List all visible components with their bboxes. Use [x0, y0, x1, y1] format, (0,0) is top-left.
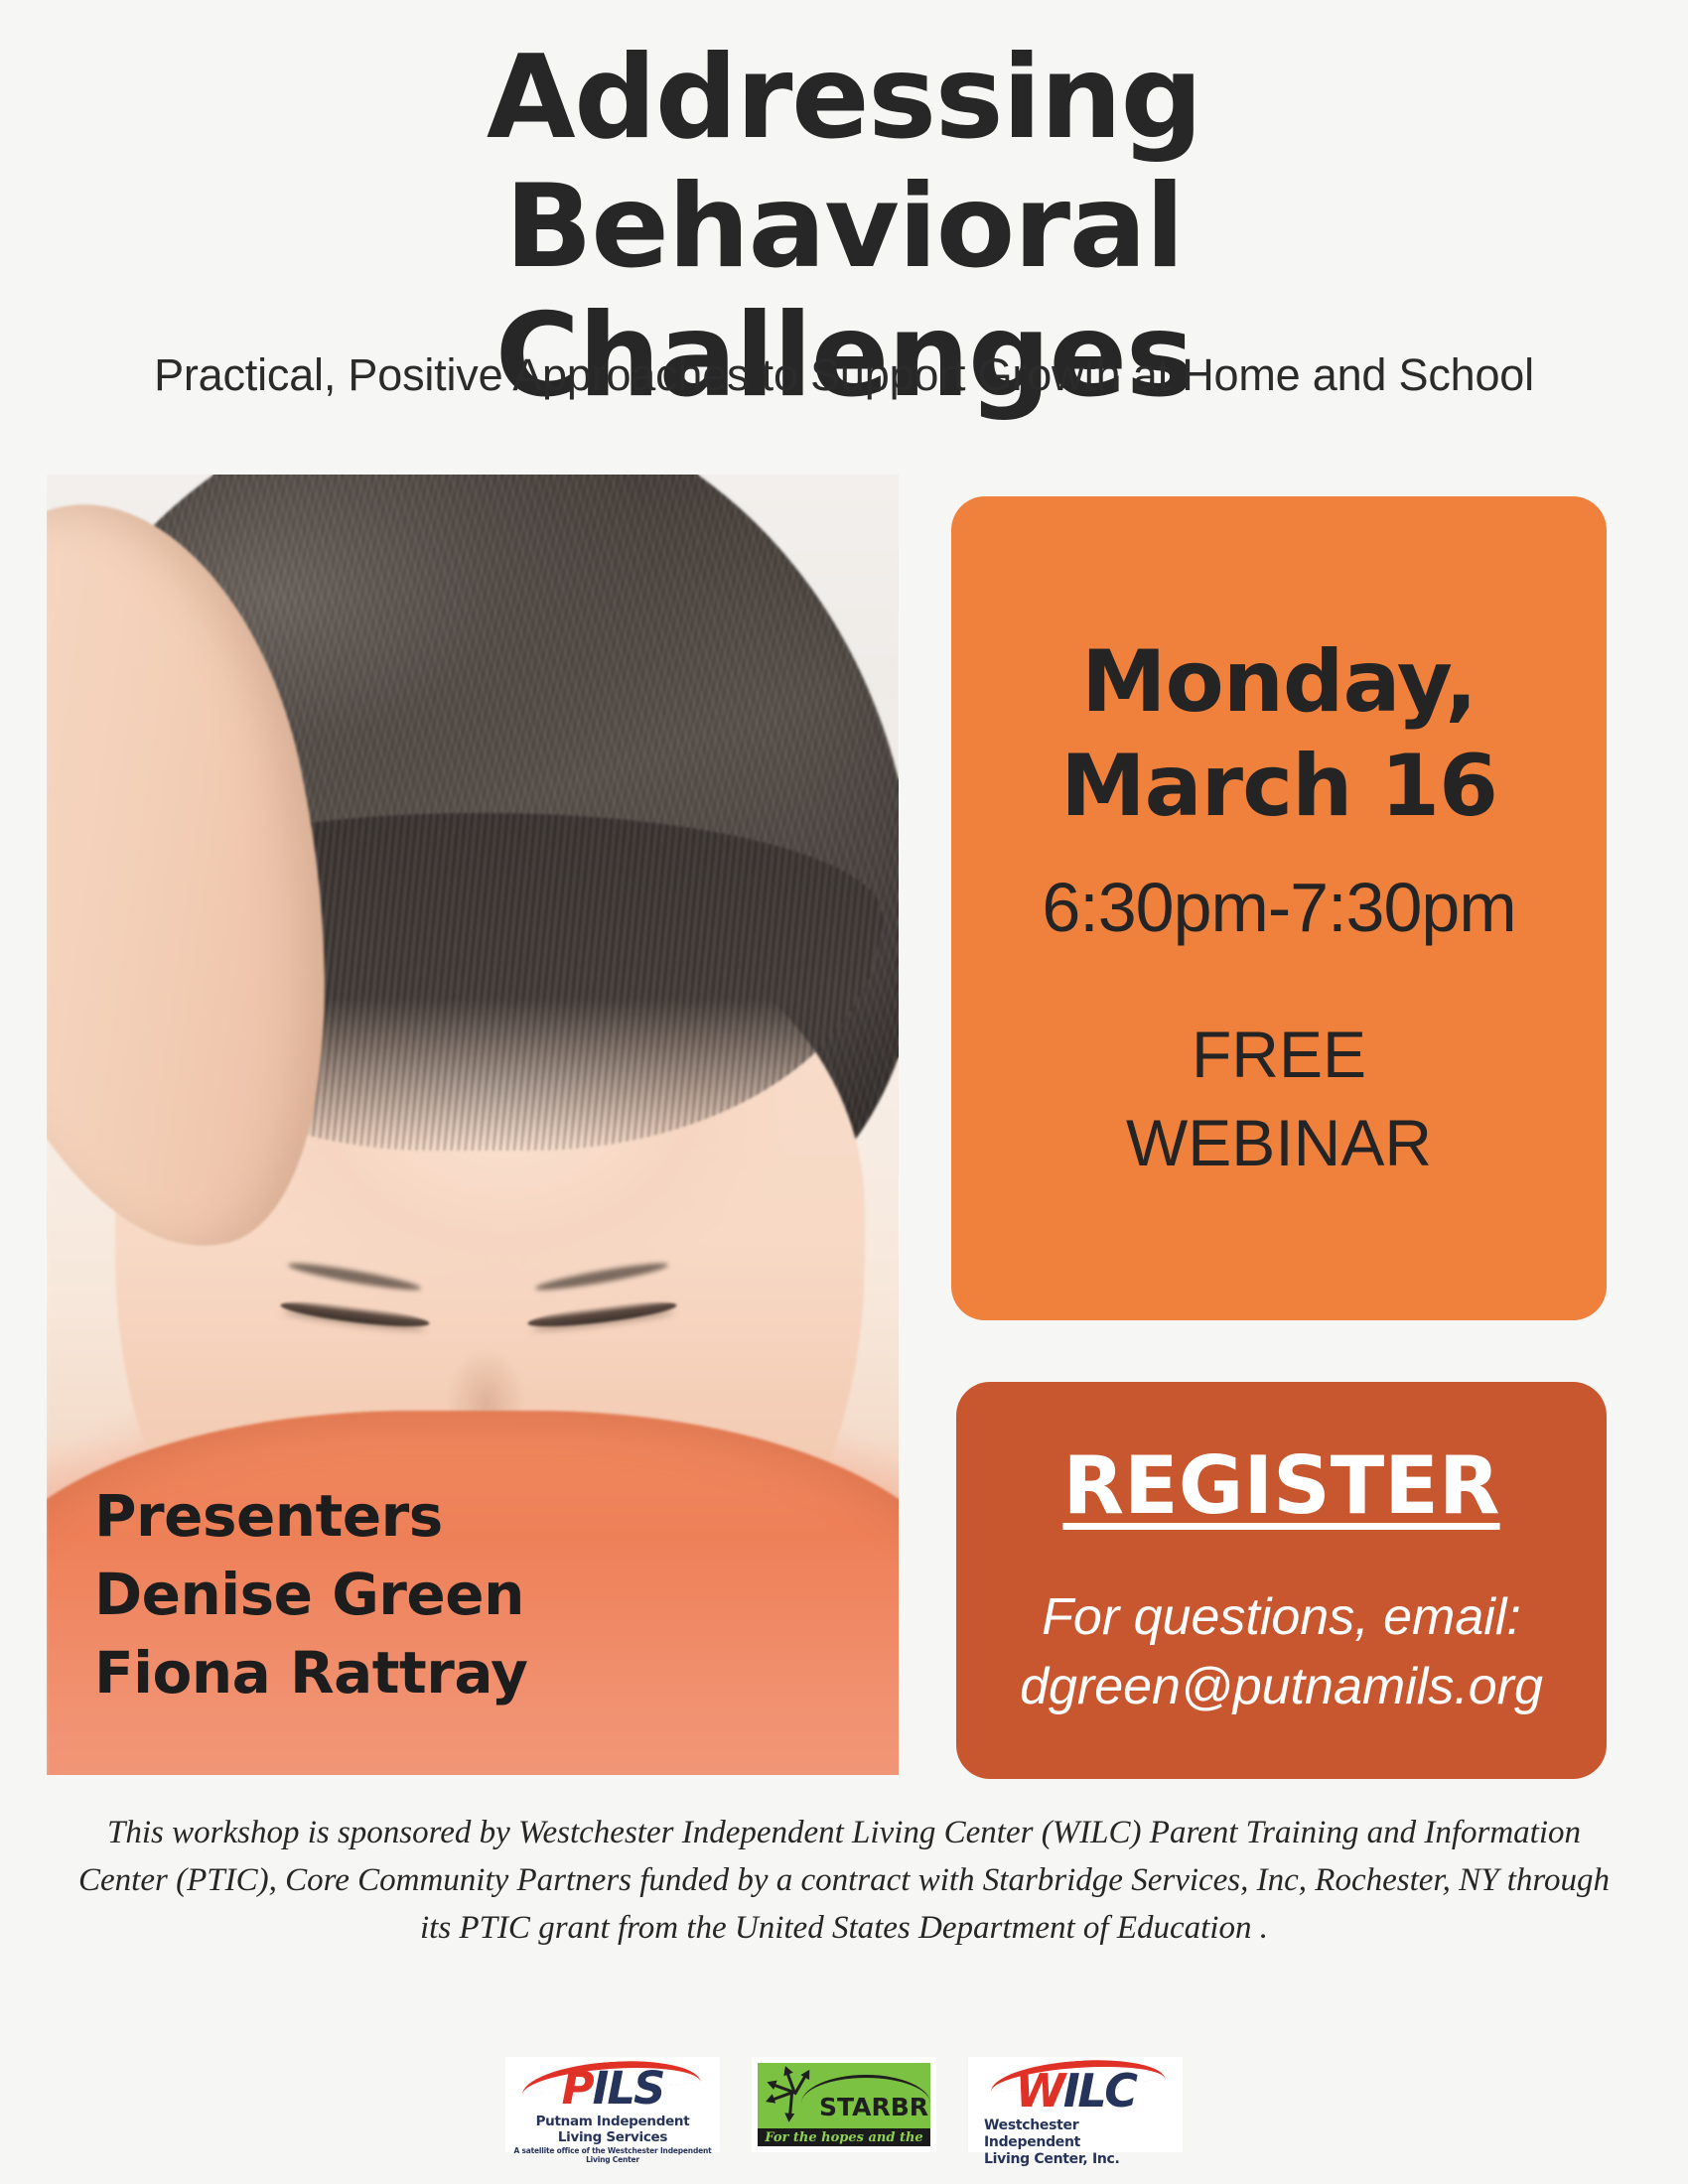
questions-label: For questions, email: [1042, 1583, 1521, 1653]
event-price-label: FREE [1192, 1011, 1366, 1098]
event-date: March 16 [1060, 735, 1497, 839]
wilc-logo: WILC Westchester Independent Living Cent… [968, 2057, 1183, 2152]
pils-mark-primary: P [562, 2062, 593, 2115]
wilc-mark-primary: W [1016, 2064, 1063, 2117]
wilc-subtitle-2: Living Center, Inc. [978, 2151, 1173, 2168]
presenter-name-1: Denise Green [94, 1556, 730, 1634]
starbridge-tagline: For the hopes and the lives [758, 2130, 930, 2146]
flyer-page: Addressing Behavioral Challenges Practic… [0, 0, 1688, 2184]
photo-eye-right [526, 1297, 677, 1331]
event-details-card: Monday, March 16 6:30pm-7:30pm FREE WEBI… [951, 496, 1607, 1320]
event-day: Monday, [1081, 630, 1477, 735]
register-card[interactable]: REGISTER For questions, email: dgreen@pu… [956, 1382, 1607, 1779]
contact-email[interactable]: dgreen@putnamils.org [1020, 1653, 1543, 1722]
page-subtitle: Practical, Positive Approaches to Suppor… [60, 349, 1628, 401]
presenter-name-2: Fiona Rattray [94, 1634, 730, 1712]
photo-eyebrow-left [287, 1259, 422, 1294]
starbridge-wordmark: STARBRIDGE [819, 2093, 930, 2121]
photo-eyebrow-right [534, 1259, 669, 1294]
wilc-subtitle-1: Westchester Independent [978, 2117, 1173, 2151]
photo-eye-left [279, 1297, 430, 1331]
sponsor-disclaimer: This workshop is sponsored by Westcheste… [60, 1809, 1628, 1953]
event-time: 6:30pm-7:30pm [1042, 868, 1515, 947]
starbridge-logo: STARBRIDGE For the hopes and the lives [752, 2057, 936, 2152]
wilc-mark-secondary: ILC [1063, 2064, 1136, 2117]
pils-logo: PILS Putnam Independent Living Services … [505, 2057, 720, 2152]
pils-subtitle-2: A satellite office of the Westchester In… [513, 2146, 712, 2164]
pils-wordmark: PILS [513, 2065, 712, 2113]
pils-subtitle-1: Putnam Independent Living Services [513, 2114, 712, 2145]
presenters-block: Presenters Denise Green Fiona Rattray [94, 1477, 730, 1712]
pils-mark-secondary: ILS [593, 2062, 664, 2115]
register-link[interactable]: REGISTER [1062, 1439, 1499, 1532]
logo-row: PILS Putnam Independent Living Services … [0, 2057, 1688, 2152]
wilc-wordmark: WILC [978, 2066, 1173, 2116]
presenters-heading: Presenters [94, 1477, 730, 1556]
starbridge-logo-frame: STARBRIDGE For the hopes and the lives [758, 2063, 930, 2146]
event-format-label: WEBINAR [1126, 1099, 1432, 1186]
starbridge-green-panel: STARBRIDGE [758, 2063, 930, 2128]
